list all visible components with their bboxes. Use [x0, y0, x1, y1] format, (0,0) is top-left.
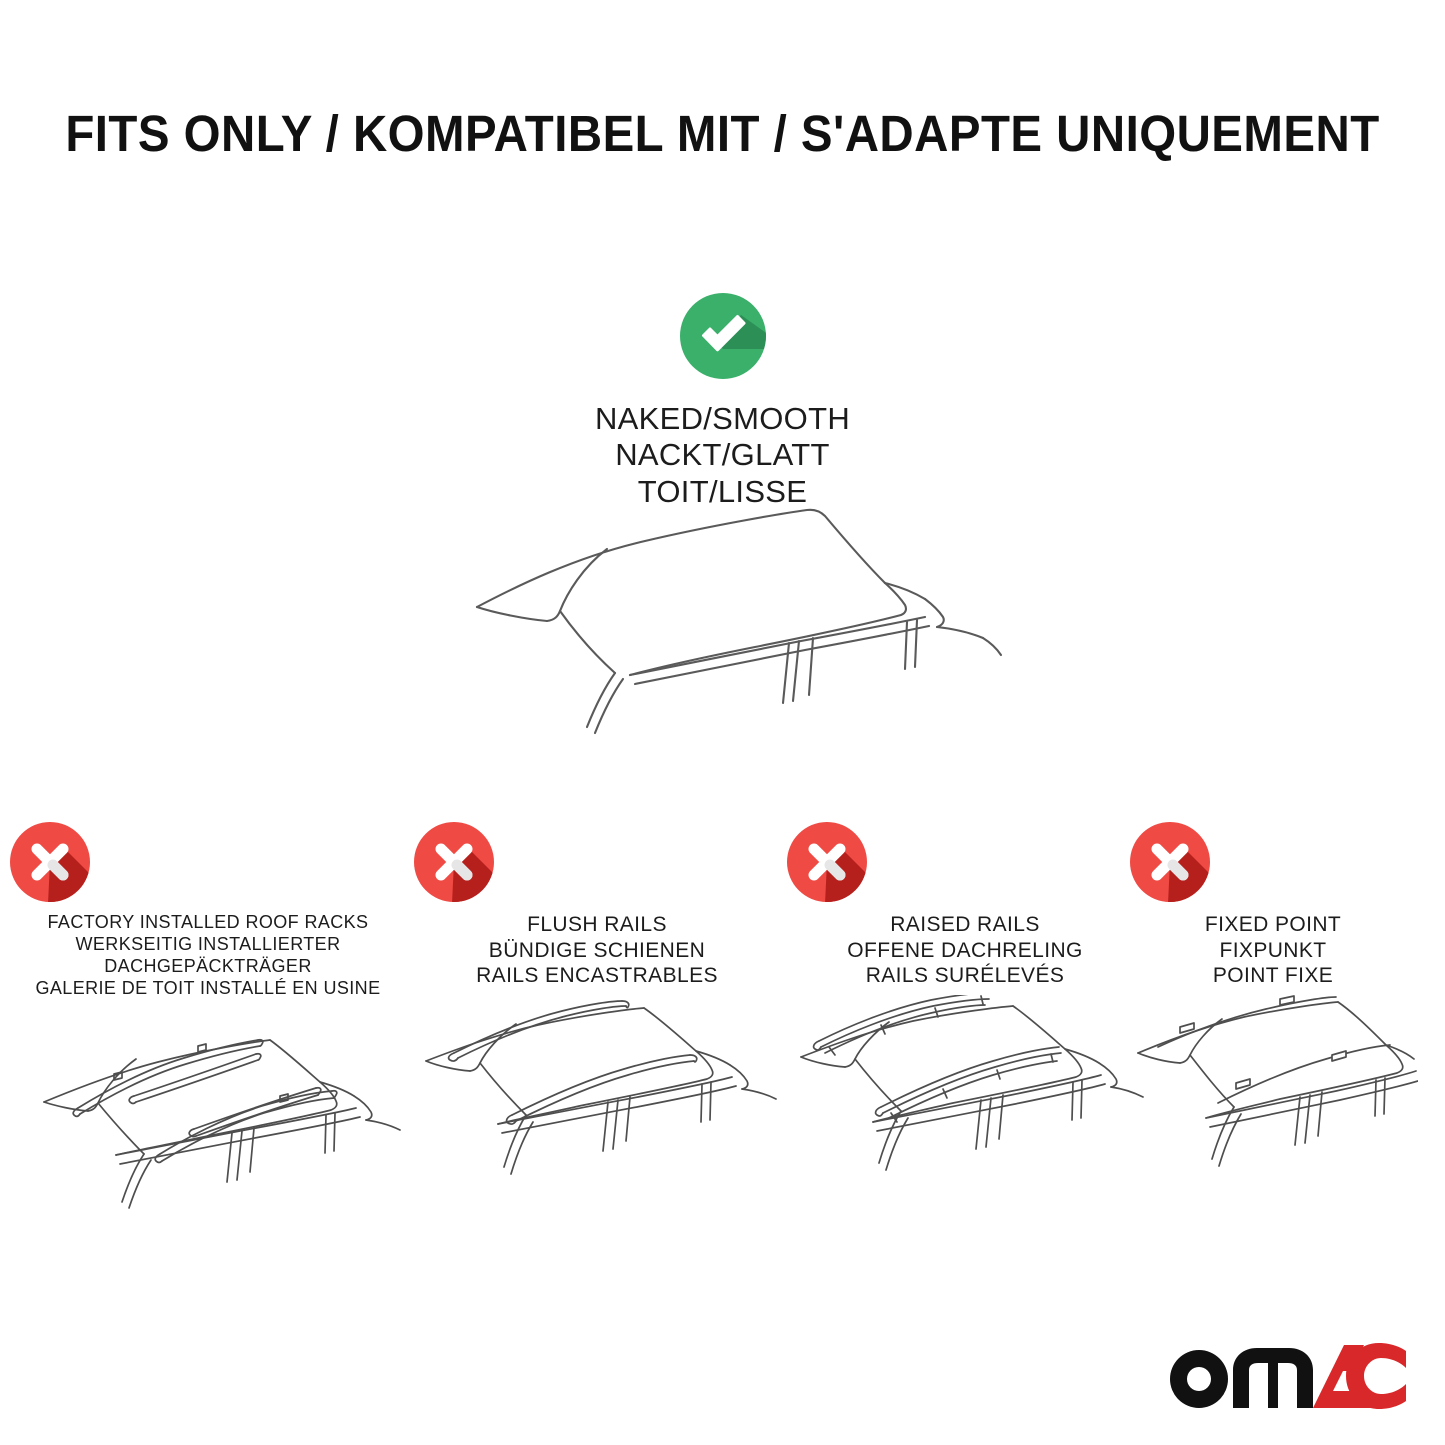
compatible-block: NAKED/SMOOTH NACKT/GLATT TOIT/LISSE — [0, 290, 1445, 510]
page-title: FITS ONLY / KOMPATIBEL MIT / S'ADAPTE UN… — [51, 104, 1395, 163]
caption-line-2: OFFENE DACHRELING — [785, 938, 1145, 964]
column-caption: FIXED POINT FIXPUNKT POINT FIXE — [1128, 912, 1418, 989]
column-fixed-point: FIXED POINT FIXPUNKT POINT FIXE — [1128, 820, 1418, 1210]
x-circle-icon — [8, 820, 92, 904]
caption-line-2: BÜNDIGE SCHIENEN — [412, 938, 782, 964]
caption-line-4: GALERIE DE TOIT INSTALLÉ EN USINE — [8, 978, 408, 1000]
caption-line-3: RAILS ENCASTRABLES — [412, 963, 782, 989]
omac-logo — [1167, 1337, 1407, 1411]
x-circle-icon — [785, 820, 869, 904]
compatible-line-1: NAKED/SMOOTH — [0, 401, 1445, 437]
column-caption: RAISED RAILS OFFENE DACHRELING RAILS SUR… — [785, 912, 1145, 989]
caption-line-3: DACHGEPÄCKTRÄGER — [8, 956, 408, 978]
caption-line-2: FIXPUNKT — [1128, 938, 1418, 964]
column-raised-rails: RAISED RAILS OFFENE DACHRELING RAILS SUR… — [785, 820, 1145, 1210]
x-circle-badge — [785, 820, 1145, 906]
compatible-caption: NAKED/SMOOTH NACKT/GLATT TOIT/LISSE — [0, 401, 1445, 510]
omac-logo-mark — [1167, 1337, 1407, 1411]
x-circle-icon — [1128, 820, 1212, 904]
car-roof-flush-rails-illustration — [412, 995, 782, 1210]
caption-line-3: RAILS SURÉLEVÉS — [785, 963, 1145, 989]
x-circle-icon — [412, 820, 496, 904]
incompatible-columns: FACTORY INSTALLED ROOF RACKS WERKSEITIG … — [0, 820, 1445, 1250]
caption-line-1: FLUSH RAILS — [412, 912, 782, 938]
x-circle-badge — [8, 820, 408, 906]
column-caption: FLUSH RAILS BÜNDIGE SCHIENEN RAILS ENCAS… — [412, 912, 782, 989]
car-roof-factory-racks-illustration — [8, 1006, 408, 1221]
check-circle-badge — [677, 290, 769, 382]
column-factory-installed-roof-racks: FACTORY INSTALLED ROOF RACKS WERKSEITIG … — [8, 820, 408, 1221]
car-roof-raised-rails-illustration — [785, 995, 1145, 1210]
x-circle-badge — [1128, 820, 1418, 906]
column-caption: FACTORY INSTALLED ROOF RACKS WERKSEITIG … — [8, 912, 408, 1000]
x-circle-badge — [412, 820, 782, 906]
caption-line-1: FACTORY INSTALLED ROOF RACKS — [8, 912, 408, 934]
car-roof-naked-smooth-illustration — [455, 495, 1015, 745]
column-flush-rails: FLUSH RAILS BÜNDIGE SCHIENEN RAILS ENCAS… — [412, 820, 782, 1210]
caption-line-1: RAISED RAILS — [785, 912, 1145, 938]
caption-line-2: WERKSEITIG INSTALLIERTER — [8, 934, 408, 956]
caption-line-1: FIXED POINT — [1128, 912, 1418, 938]
fitment-compatibility-infographic: FITS ONLY / KOMPATIBEL MIT / S'ADAPTE UN… — [0, 0, 1445, 1445]
compatible-line-2: NACKT/GLATT — [0, 437, 1445, 473]
check-circle-icon — [677, 290, 769, 382]
car-roof-fixed-point-illustration — [1128, 995, 1418, 1210]
caption-line-3: POINT FIXE — [1128, 963, 1418, 989]
